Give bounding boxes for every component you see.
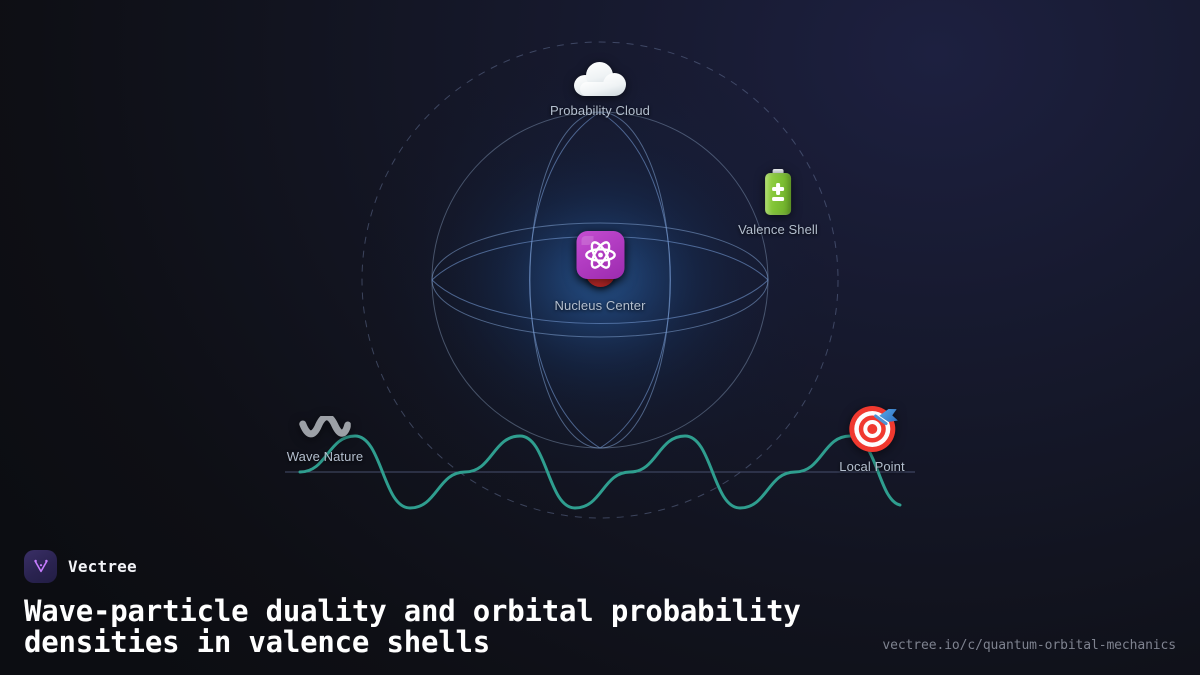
page-title: Wave-particle duality and orbital probab… <box>24 596 844 659</box>
node-label-probability-cloud: Probability Cloud <box>550 103 650 118</box>
brand-row: Vectree <box>24 550 1176 583</box>
node-valence-shell[interactable]: Valence Shell <box>738 169 818 237</box>
node-label-local-point: Local Point <box>839 459 904 474</box>
node-nucleus-center[interactable]: Nucleus Center <box>555 231 646 313</box>
node-local-point[interactable]: Local Point <box>839 406 904 474</box>
site-url: vectree.io/c/quantum-orbital-mechanics <box>882 638 1176 653</box>
vectree-v-logo-icon <box>24 550 57 583</box>
atom-icon <box>574 231 626 291</box>
battery-icon <box>765 169 791 215</box>
node-label-wave-nature: Wave Nature <box>287 449 363 464</box>
cloud-icon <box>574 62 626 96</box>
wavy-dash-icon <box>299 416 351 442</box>
brand-name: Vectree <box>68 557 137 576</box>
node-label-valence-shell: Valence Shell <box>738 222 818 237</box>
node-probability-cloud[interactable]: Probability Cloud <box>550 62 650 118</box>
node-label-nucleus-center: Nucleus Center <box>555 298 646 313</box>
og-card-canvas: Probability Cloud Valence Shell <box>0 0 1200 675</box>
node-wave-nature[interactable]: Wave Nature <box>287 416 363 464</box>
target-dart-icon <box>849 406 895 452</box>
card-footer: Vectree Wave-particle duality and orbita… <box>0 550 1200 675</box>
